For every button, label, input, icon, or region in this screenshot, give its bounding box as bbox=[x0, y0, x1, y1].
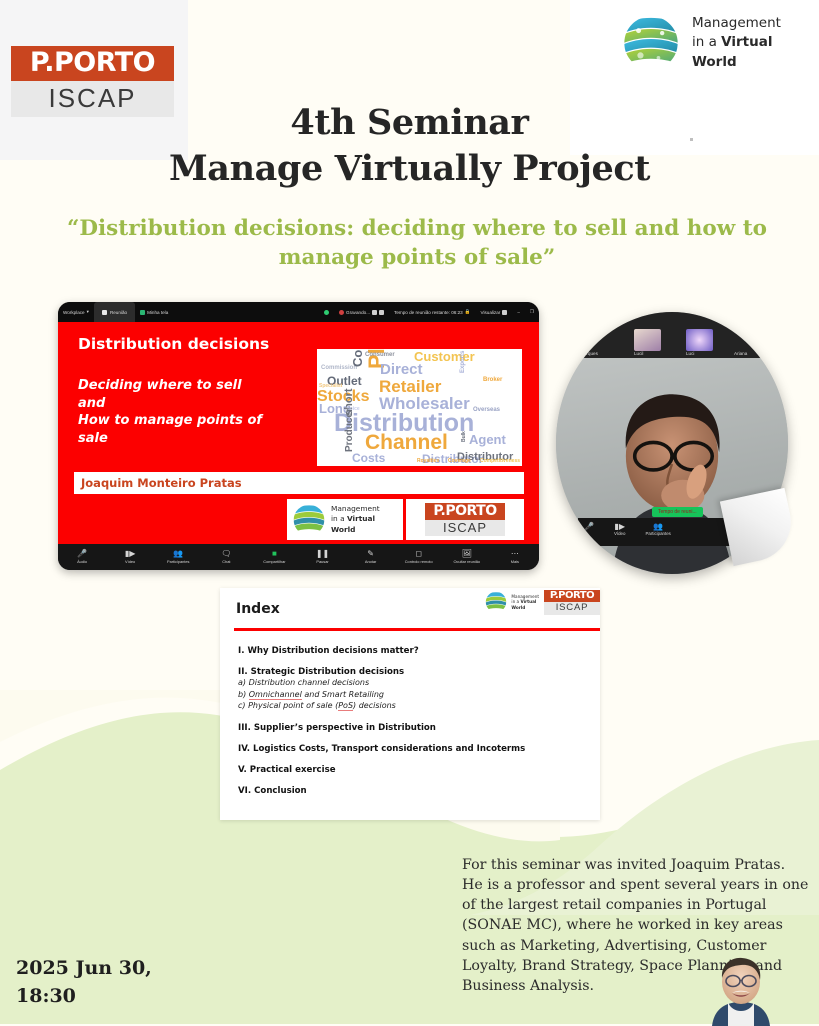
index-slide: Index Management in a Virtual World P.PO… bbox=[220, 588, 600, 820]
index-logo-text: Management in a Virtual World bbox=[511, 594, 539, 611]
zoom-toolbar: 🎤 Áudio ▮▶ Vídeo 👥 Participantes 🗨 Chat … bbox=[58, 544, 539, 570]
wc-word: Broker bbox=[483, 377, 502, 383]
wc-word: Bulk bbox=[462, 431, 467, 442]
webcam-participants-button[interactable]: 👥 Participantes bbox=[645, 522, 670, 536]
wc-word: Costs bbox=[352, 452, 385, 464]
meeting-icon bbox=[102, 310, 107, 315]
toolbar-hide-meeting-button[interactable]: 🖼 Ocultar reunião bbox=[443, 550, 491, 564]
globe-icon bbox=[291, 502, 327, 538]
page-title: 4th Seminar Manage Virtually Project bbox=[0, 100, 819, 191]
restore-button[interactable]: ❐ bbox=[525, 309, 539, 315]
people-icon: 👥 bbox=[173, 550, 183, 558]
toolbar-label: Anotar bbox=[365, 559, 376, 564]
wc-word: Retailer bbox=[379, 378, 441, 395]
participant-name: Marques bbox=[576, 328, 595, 334]
chat-icon: 🗨 bbox=[221, 550, 231, 558]
view-label: Visualizar bbox=[480, 310, 500, 315]
iscap-wordmark: ISCAP bbox=[544, 602, 600, 615]
webcam-toolbar-label: Participantes bbox=[645, 531, 670, 536]
pporto-wordmark: P.PORTO bbox=[544, 590, 600, 602]
speaker-photo bbox=[704, 952, 778, 1026]
index-mvw-logo: Management in a Virtual World bbox=[484, 590, 539, 614]
slide-sub-line-2: and bbox=[78, 395, 293, 413]
index-item-ii-c: c) Physical point of sale (PoS) decision… bbox=[238, 700, 588, 712]
wc-word: Control bbox=[351, 349, 364, 367]
wc-word: Channel bbox=[365, 432, 448, 453]
participant-name: Luci bbox=[686, 351, 694, 356]
wc-word: Agent bbox=[469, 433, 506, 446]
slide-logo-text: Management in a Virtual World bbox=[331, 504, 380, 535]
screen-icon bbox=[140, 310, 145, 315]
participant-strip: Marques Marques Lucil Luci Ariana Ariana bbox=[556, 312, 788, 358]
index-item-vi: VI. Conclusion bbox=[238, 786, 588, 796]
presenter-name: Joaquim Monteiro Pratas bbox=[81, 476, 242, 490]
slide-subheading: Deciding where to sell and How to manage… bbox=[78, 377, 293, 447]
project-logo-text: Management in a Virtual World bbox=[692, 14, 781, 73]
logo-line-2: in a Virtual bbox=[692, 33, 781, 53]
management-virtual-world-logo: Management in a Virtual World bbox=[620, 12, 781, 74]
iscap-wordmark: ISCAP bbox=[425, 520, 505, 536]
participant-name: Lucil bbox=[634, 351, 643, 356]
toolbar-audio-button[interactable]: 🎤 Áudio bbox=[58, 550, 106, 564]
camera-icon: ▮▶ bbox=[614, 522, 625, 531]
more-icon: ⋯ bbox=[511, 550, 519, 558]
microphone-icon: 🎤 bbox=[77, 550, 87, 558]
camera-icon: ▮▶ bbox=[125, 550, 136, 558]
toolbar-share-button[interactable]: ■ Compartilhar bbox=[250, 550, 298, 564]
index-item-ii: II. Strategic Distribution decisions bbox=[238, 667, 588, 677]
meeting-timer: Tempo de reunião restante: 06:23 🔒 bbox=[389, 309, 475, 315]
chevron-down-icon: ▾ bbox=[87, 309, 89, 315]
toolbar-label: Participantes bbox=[167, 559, 190, 564]
minimize-button[interactable]: – bbox=[512, 310, 525, 315]
wc-word: Competitiveness bbox=[480, 459, 520, 464]
title-line-2: Manage Virtually Project bbox=[0, 146, 819, 192]
pporto-iscap-logo: P.PORTO ISCAP bbox=[425, 503, 505, 536]
slide-sub-line-4: sale bbox=[78, 430, 293, 448]
meeting-timer-badge: Tempo de reuni... bbox=[652, 507, 703, 517]
logo-line-1: Management bbox=[331, 504, 380, 514]
participant-name: Marques bbox=[580, 351, 598, 356]
workplace-label: Workplace bbox=[63, 310, 85, 315]
record-dot-icon bbox=[339, 310, 344, 315]
index-item-ii-b: b) Omnichannel and Smart Retailing bbox=[238, 689, 588, 701]
webcam-video-button[interactable]: ▮▶ Vídeo bbox=[614, 522, 625, 536]
shield-icon bbox=[324, 310, 329, 315]
share-screen-icon: ■ bbox=[272, 550, 277, 558]
slide-sub-line-3: How to manage points of bbox=[78, 412, 293, 430]
toolbar-label: Áudio bbox=[77, 559, 87, 564]
encryption-icon[interactable] bbox=[319, 310, 334, 315]
pause-icon: ❚❚ bbox=[316, 550, 329, 558]
participant-name: Ariana bbox=[736, 328, 750, 334]
index-item-v: V. Practical exercise bbox=[238, 765, 588, 775]
view-menu[interactable]: Visualizar bbox=[475, 310, 512, 315]
wordcloud-image: Commission Outlet Stocks Specialist Long… bbox=[317, 349, 522, 466]
share-label: Minha tela bbox=[147, 310, 168, 315]
grid-icon bbox=[502, 310, 507, 315]
presenter-name-bar: Joaquim Monteiro Pratas bbox=[74, 472, 524, 494]
event-date: 2025 Jun 30, bbox=[16, 955, 152, 983]
wc-word: Overseas bbox=[473, 407, 500, 413]
index-pporto-logo: P.PORTO ISCAP bbox=[544, 590, 600, 615]
toolbar-annotate-button[interactable]: ✎ Anotar bbox=[347, 550, 395, 564]
slide-mvw-logo: Management in a Virtual World bbox=[287, 499, 403, 540]
logo-line-3: World bbox=[511, 605, 539, 611]
webcam-audio-button[interactable]: 🎤 bbox=[584, 522, 594, 531]
event-time: 18:30 bbox=[16, 983, 152, 1011]
meeting-label: Reunião bbox=[110, 310, 127, 315]
title-line-1: 4th Seminar bbox=[0, 100, 819, 146]
wc-word: Direct bbox=[380, 362, 423, 377]
people-icon: 👥 bbox=[645, 522, 670, 531]
toolbar-video-button[interactable]: ▮▶ Vídeo bbox=[106, 550, 154, 564]
recording-label: Gravando... bbox=[346, 310, 370, 315]
hide-meeting-icon: 🖼 bbox=[462, 550, 472, 558]
slide-pporto-logo: P.PORTO ISCAP bbox=[406, 499, 524, 540]
meeting-tab[interactable]: Reunião bbox=[94, 302, 135, 322]
toolbar-label: Chat bbox=[222, 559, 230, 564]
participant-name: Ariana bbox=[734, 351, 747, 356]
zoom-topbar: Workplace ▾ Reunião Minha tela Gravando.… bbox=[58, 302, 539, 322]
participant-thumbnail[interactable] bbox=[634, 329, 661, 351]
microphone-icon: 🎤 bbox=[584, 522, 594, 531]
toolbar-remote-control-button[interactable]: ◻ Controlo remoto bbox=[395, 550, 443, 564]
page-subtitle: “Distribution decisions: deciding where … bbox=[52, 214, 782, 272]
index-item-iii: III. Supplier’s perspective in Distribut… bbox=[238, 723, 588, 733]
wc-word: Producer bbox=[345, 408, 355, 452]
webcam-sticker: Tempo de reuni... 🎤 ▮▶ Vídeo 👥 Participa… bbox=[556, 312, 788, 574]
toolbar-chat-button[interactable]: 🗨 Chat bbox=[202, 550, 250, 564]
logo-line-3: World bbox=[331, 525, 380, 535]
toolbar-label: Compartilhar bbox=[263, 559, 285, 564]
index-item-ii-a: a) Distribution channel decisions bbox=[238, 677, 588, 689]
wc-word: Coverage bbox=[448, 459, 471, 464]
stop-recording-icon bbox=[379, 310, 384, 315]
index-heading: Index bbox=[236, 601, 280, 617]
share-screen-tab[interactable]: Minha tela bbox=[135, 310, 173, 315]
toolbar-label: Controlo remoto bbox=[405, 559, 433, 564]
logo-line-1: Management bbox=[692, 14, 781, 34]
index-slide-logos: Management in a Virtual World P.PORTO IS… bbox=[484, 590, 600, 615]
toolbar-participants-button[interactable]: 👥 Participantes bbox=[154, 550, 202, 564]
event-datetime: 2025 Jun 30, 18:30 bbox=[16, 955, 152, 1010]
pporto-wordmark: P.PORTO bbox=[11, 46, 174, 81]
pause-recording-icon bbox=[372, 310, 377, 315]
toolbar-label: Ocultar reunião bbox=[453, 559, 480, 564]
toolbar-label: Pausar bbox=[316, 559, 328, 564]
logo-line-2: in a Virtual bbox=[331, 514, 380, 524]
toolbar-more-button[interactable]: ⋯ Mais bbox=[491, 550, 539, 564]
index-divider bbox=[234, 628, 600, 631]
pencil-icon: ✎ bbox=[367, 550, 374, 558]
toolbar-label: Vídeo bbox=[125, 559, 135, 564]
wc-word: Specialist bbox=[319, 384, 342, 389]
toolbar-pause-button[interactable]: ❚❚ Pausar bbox=[298, 550, 346, 564]
zoom-meeting-screenshot: Workplace ▾ Reunião Minha tela Gravando.… bbox=[58, 302, 539, 570]
remote-control-icon: ◻ bbox=[415, 550, 422, 558]
index-items: I. Why Distribution decisions matter? II… bbox=[238, 646, 588, 796]
logo-line-3: World bbox=[692, 53, 781, 73]
wc-word: Exports bbox=[460, 351, 466, 373]
webcam-toolbar-label: Vídeo bbox=[614, 531, 625, 536]
index-item-iv: IV. Logistics Costs, Transport considera… bbox=[238, 744, 588, 754]
recording-status[interactable]: Gravando... bbox=[334, 310, 389, 315]
toolbar-label: Mais bbox=[511, 559, 519, 564]
globe-icon bbox=[484, 590, 508, 614]
globe-icon bbox=[620, 12, 682, 74]
lock-icon: 🔒 bbox=[465, 309, 471, 315]
slide-sub-line-1: Deciding where to sell bbox=[78, 377, 293, 395]
presentation-slide: Distribution decisions Deciding where to… bbox=[58, 322, 539, 544]
participant-thumbnail[interactable] bbox=[686, 329, 713, 351]
workplace-tab[interactable]: Workplace ▾ bbox=[58, 309, 94, 315]
wc-word: Royalties bbox=[417, 459, 439, 464]
slide-heading: Distribution decisions bbox=[78, 335, 269, 353]
pporto-wordmark: P.PORTO bbox=[425, 503, 505, 520]
wc-word: Consumer bbox=[365, 352, 395, 358]
index-item-i: I. Why Distribution decisions matter? bbox=[238, 646, 588, 656]
timer-label: Tempo de reunião restante: 06:23 bbox=[394, 310, 463, 315]
